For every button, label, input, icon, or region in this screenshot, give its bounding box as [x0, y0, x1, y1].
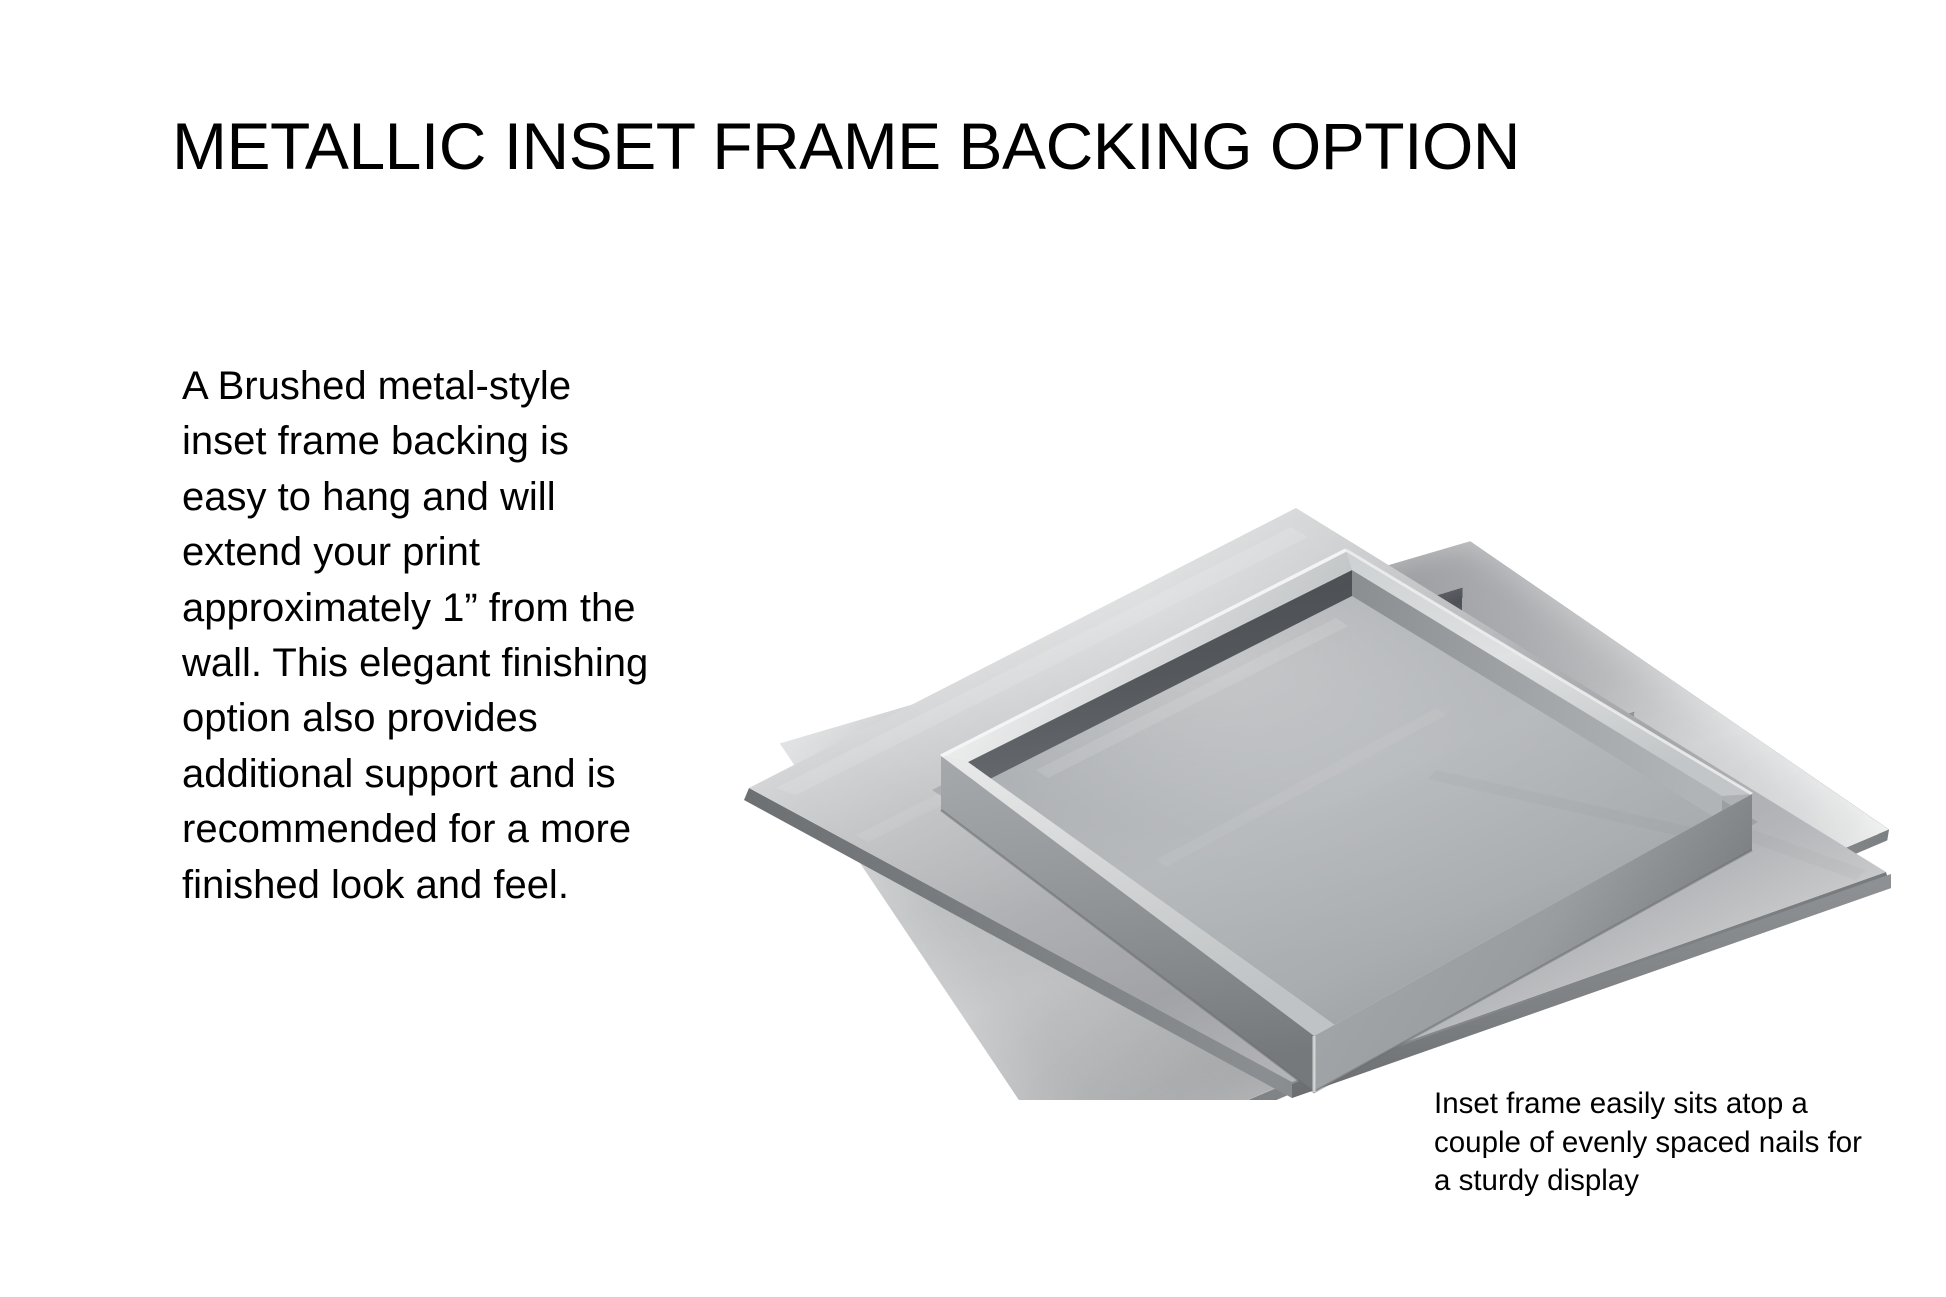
metal-frame-3d-scene — [736, 470, 1896, 1100]
body-paragraph: A Brushed metal-style inset frame backin… — [182, 359, 654, 913]
backing-plate — [780, 541, 1889, 1100]
photo-caption: Inset frame easily sits atop a couple of… — [1434, 1085, 1864, 1201]
slide-canvas: METALLIC INSET FRAME BACKING OPTION A Br… — [0, 0, 1946, 1297]
page-title: METALLIC INSET FRAME BACKING OPTION — [172, 112, 1872, 182]
product-photo — [736, 470, 1896, 1100]
